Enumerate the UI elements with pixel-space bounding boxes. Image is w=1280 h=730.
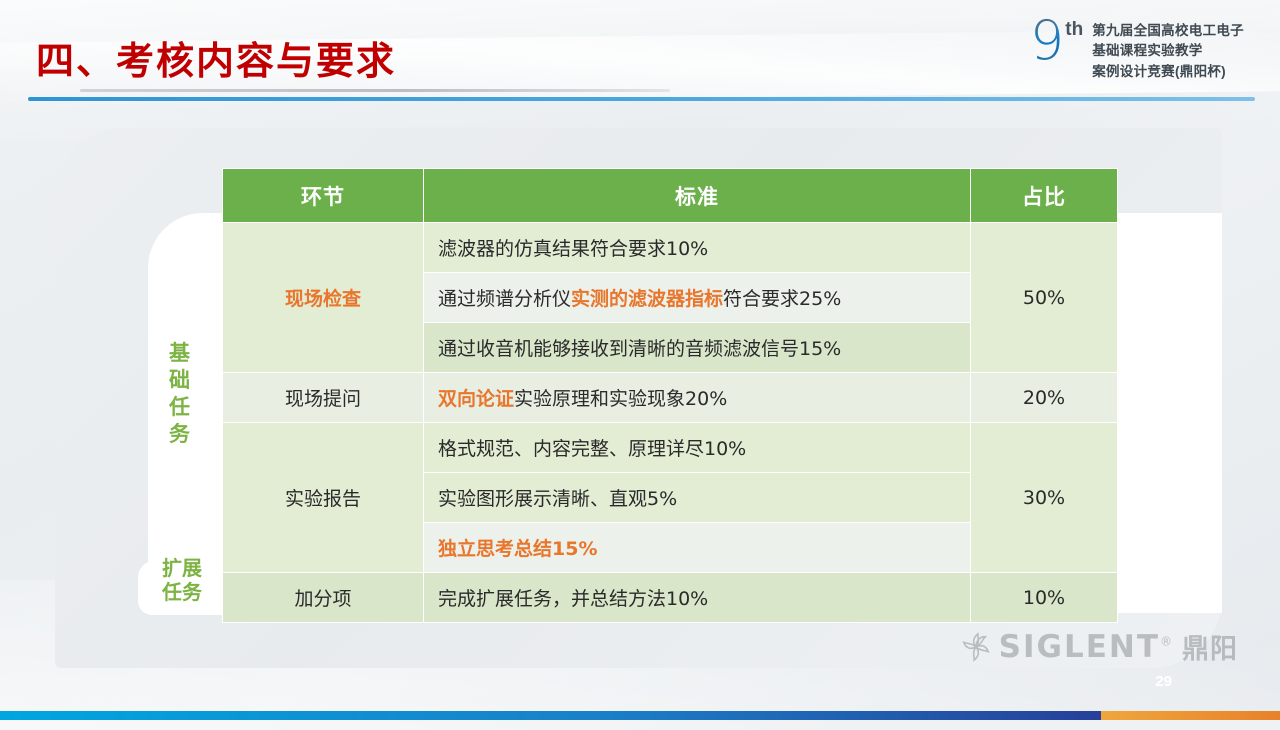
siglent-wordmark: SIGLENT® [999, 629, 1174, 665]
standard-text: 滤波器的仿真结果符合要求10% [438, 238, 708, 260]
table-row: 现场提问双向论证实验原理和实验现象20%20% [223, 373, 1118, 423]
cell-stage: 现场检查 [223, 223, 424, 373]
cell-percent: 50% [971, 223, 1118, 373]
cell-percent: 20% [971, 373, 1118, 423]
cell-percent: 30% [971, 423, 1118, 573]
standard-text-tail: 实验原理和实验现象20% [514, 388, 727, 410]
contest-logo: 9 th 第九届全国高校电工电子 基础课程实验教学 案例设计竞赛(鼎阳杯) [1030, 16, 1244, 80]
column-header-standard: 标准 [424, 169, 971, 223]
group-label-basic-char-3: 任 [160, 394, 200, 421]
cell-standard: 通过收音机能够接收到清晰的音频滤波信号15% [424, 323, 971, 373]
ordinal-suffix: th [1065, 20, 1083, 39]
siglent-brand-text: SIGLENT [999, 629, 1160, 665]
cell-standard: 实验图形展示清晰、直观5% [424, 473, 971, 523]
cell-standard: 完成扩展任务，并总结方法10% [424, 573, 971, 623]
standard-text: 通过收音机能够接收到清晰的音频滤波信号15% [438, 338, 841, 360]
contest-name-lines: 第九届全国高校电工电子 基础课程实验教学 案例设计竞赛(鼎阳杯) [1092, 22, 1244, 80]
table-row: 加分项完成扩展任务，并总结方法10%10% [223, 573, 1118, 623]
page-number: 29 [1155, 673, 1172, 690]
table-body: 现场检查滤波器的仿真结果符合要求10%50%通过频谱分析仪实测的滤波器指标符合要… [223, 223, 1118, 623]
group-label-extended-line-1: 扩展 [146, 556, 218, 580]
cell-standard: 独立思考总结15% [424, 523, 971, 573]
cell-standard: 滤波器的仿真结果符合要求10% [424, 223, 971, 273]
siglent-chinese-name: 鼎阳 [1182, 627, 1238, 666]
cell-stage: 加分项 [223, 573, 424, 623]
header-divider [28, 97, 1255, 101]
standard-text: 实验图形展示清晰、直观5% [438, 488, 677, 510]
table-row: 现场检查滤波器的仿真结果符合要求10%50% [223, 223, 1118, 273]
standard-text-tail: 符合要求25% [723, 288, 841, 310]
cell-standard: 格式规范、内容完整、原理详尽10% [424, 423, 971, 473]
siglent-swirl-icon [961, 632, 991, 662]
bottom-bar-blue [0, 711, 1101, 720]
standard-text: 通过频谱分析仪 [438, 288, 571, 310]
stage-label: 现场提问 [285, 388, 361, 410]
standard-highlight-text: 实测的滤波器指标 [571, 288, 723, 310]
siglent-logo: SIGLENT® 鼎阳 [961, 627, 1238, 666]
group-label-basic-char-2: 础 [160, 367, 200, 394]
stage-label: 现场检查 [285, 288, 361, 310]
bottom-bar-orange [1101, 711, 1280, 720]
stage-label: 实验报告 [285, 488, 361, 510]
column-header-stage: 环节 [223, 169, 424, 223]
cell-percent: 10% [971, 573, 1118, 623]
standard-highlight-text: 双向论证 [438, 388, 514, 410]
standard-text: 格式规范、内容完整、原理详尽10% [438, 438, 746, 460]
group-label-basic: 基 础 任 务 [160, 340, 200, 448]
table-row: 实验报告格式规范、内容完整、原理详尽10%30% [223, 423, 1118, 473]
cell-standard: 双向论证实验原理和实验现象20% [424, 373, 971, 423]
ordinal-number: 9 [1030, 16, 1064, 66]
contest-name-line-2: 基础课程实验教学 [1092, 42, 1244, 59]
stage-label: 加分项 [294, 588, 351, 610]
standard-highlight-text: 独立思考总结15% [438, 538, 597, 560]
standard-text: 完成扩展任务，并总结方法10% [438, 588, 708, 610]
cell-stage: 现场提问 [223, 373, 424, 423]
cell-stage: 实验报告 [223, 423, 424, 573]
column-header-percent: 占比 [971, 169, 1118, 223]
group-label-extended: 扩展 任务 [146, 556, 218, 605]
table-header-row: 环节 标准 占比 [223, 169, 1118, 223]
registered-mark-icon: ® [1160, 634, 1174, 648]
cell-standard: 通过频谱分析仪实测的滤波器指标符合要求25% [424, 273, 971, 323]
contest-name-line-1: 第九届全国高校电工电子 [1092, 22, 1244, 39]
title-underline [80, 89, 670, 92]
group-label-basic-char-1: 基 [160, 340, 200, 367]
group-label-extended-line-2: 任务 [146, 580, 218, 604]
group-label-basic-char-4: 务 [160, 421, 200, 448]
page-title: 四、考核内容与要求 [36, 30, 396, 85]
contest-name-line-3: 案例设计竞赛(鼎阳杯) [1092, 63, 1244, 80]
bottom-accent-bar [0, 711, 1280, 720]
grading-criteria-table: 环节 标准 占比 现场检查滤波器的仿真结果符合要求10%50%通过频谱分析仪实测… [222, 168, 1118, 623]
contest-ordinal: 9 th [1030, 16, 1083, 66]
